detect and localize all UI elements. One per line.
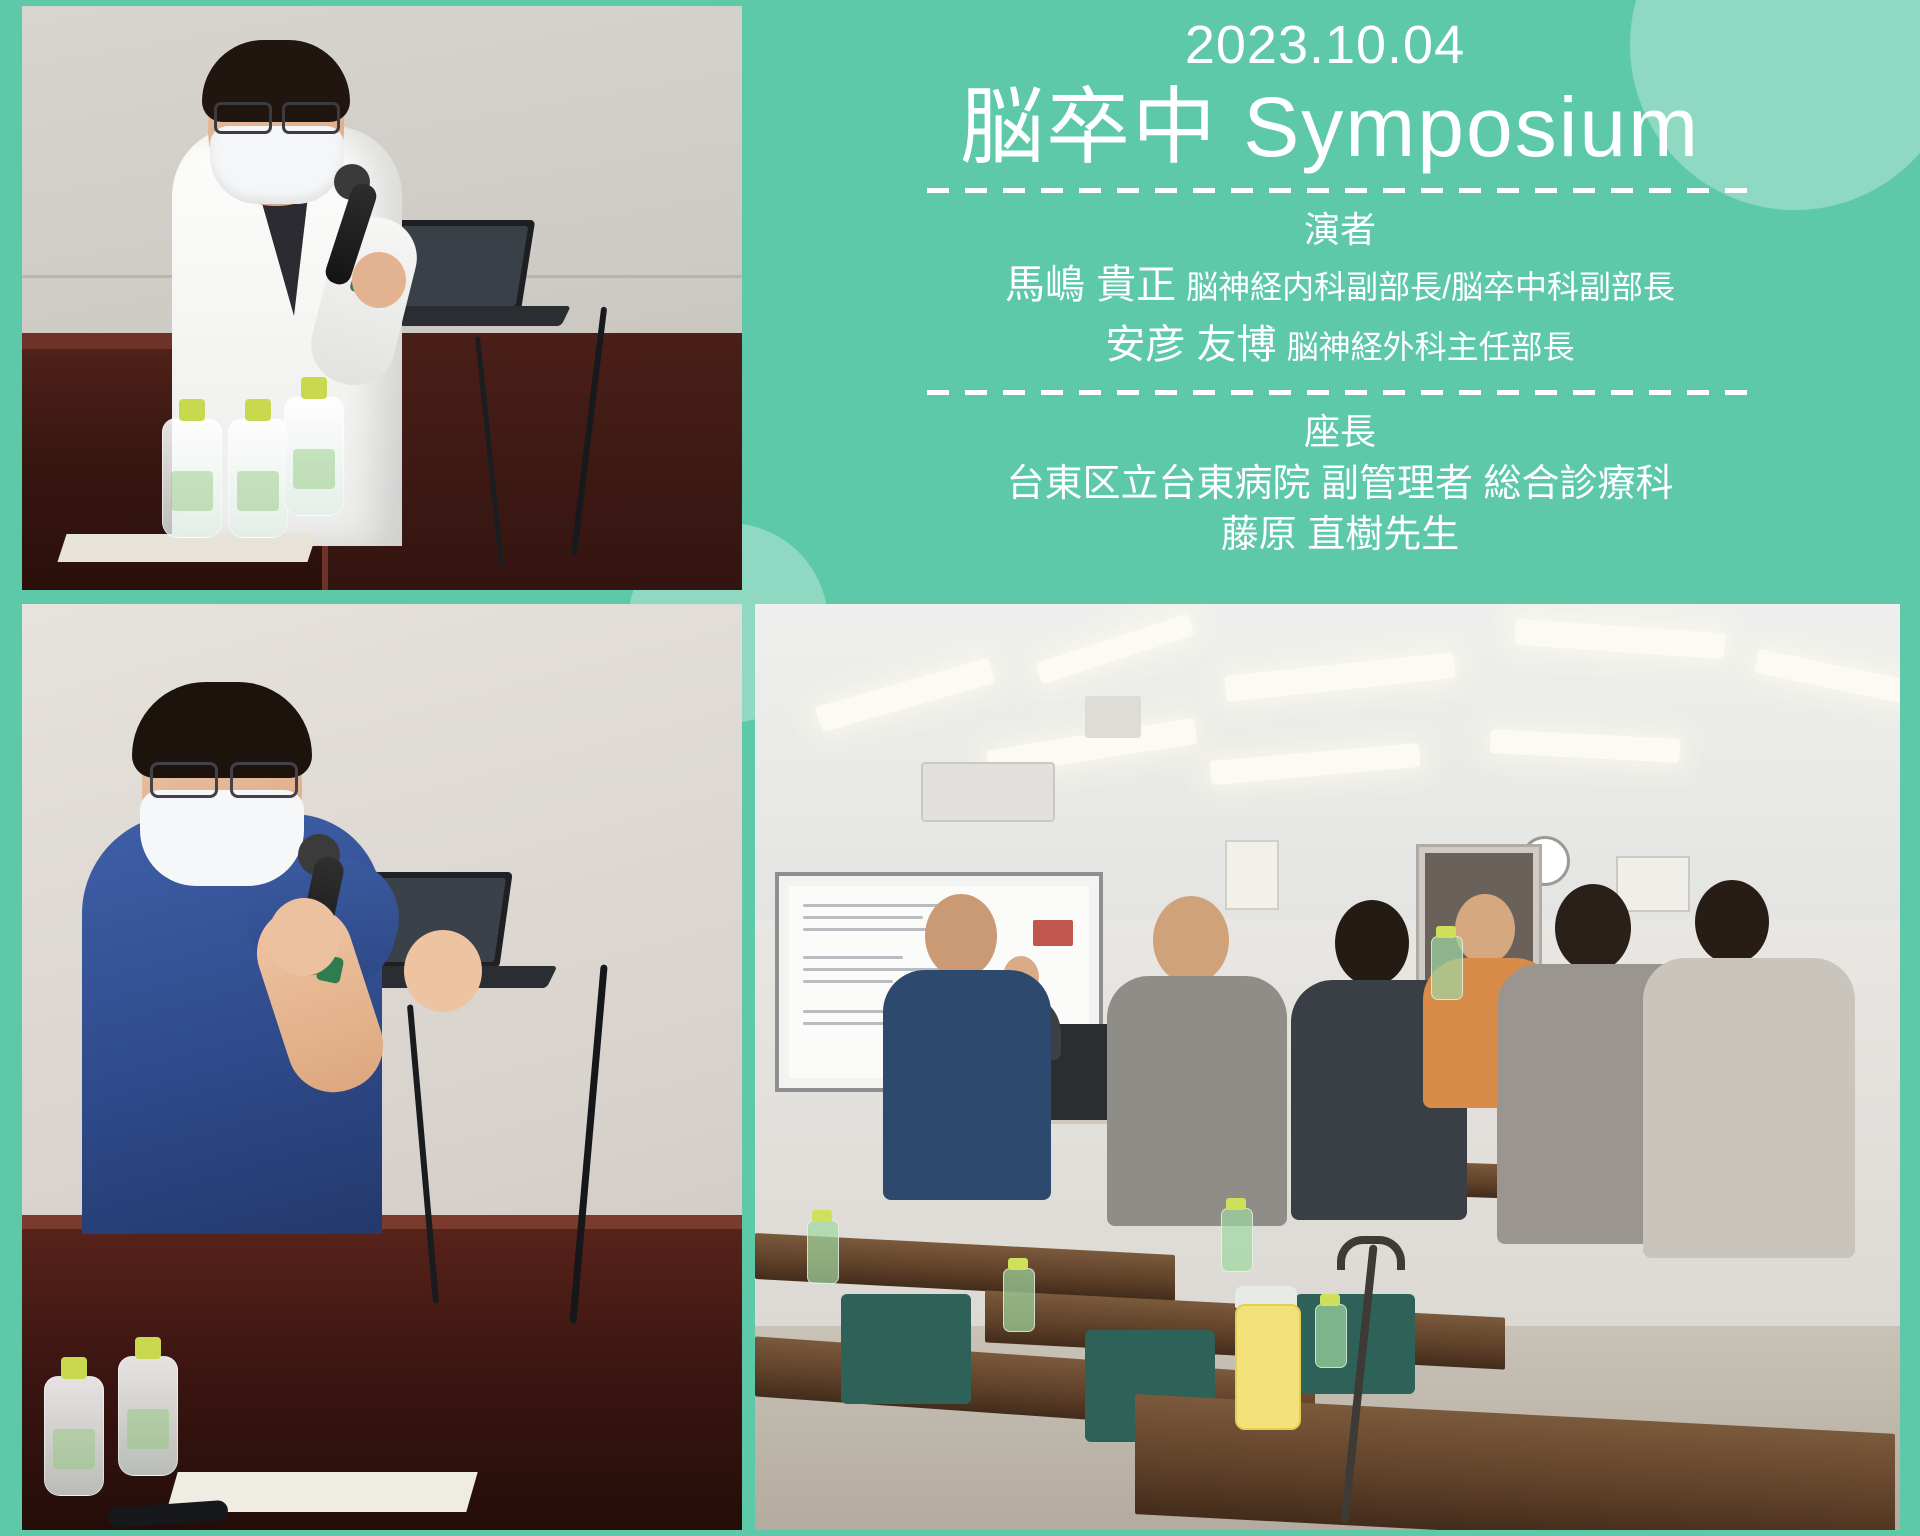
event-title: 脳卒中 Symposium bbox=[760, 80, 1920, 174]
tea-bottle-5 bbox=[1431, 936, 1463, 1000]
speaker-row-2: 安彦 友博 脳神経外科主任部長 bbox=[760, 318, 1920, 372]
divider-bottom bbox=[927, 390, 1753, 395]
chair-affiliation: 台東区立台東病院 副管理者 総合診療科 bbox=[760, 460, 1920, 509]
wall-poster-left bbox=[1225, 840, 1279, 910]
slide-highlight bbox=[1033, 920, 1073, 946]
speaker-hand-mic bbox=[268, 898, 340, 976]
divider-top bbox=[927, 188, 1753, 193]
papers-on-desk bbox=[57, 534, 316, 562]
speaker-2-role: 脳神経外科主任部長 bbox=[1287, 329, 1575, 365]
tea-bottle-cap-5 bbox=[1436, 926, 1456, 938]
water-bottle-3 bbox=[284, 396, 344, 516]
photo-bottom-left-scene bbox=[22, 604, 742, 1530]
tea-bottle-cap-3 bbox=[1226, 1198, 1246, 1210]
event-date: 2023.10.04 bbox=[760, 18, 1920, 72]
tea-bottle-4 bbox=[1315, 1304, 1347, 1368]
eyeglasses bbox=[150, 762, 298, 792]
chair-label: 座長 bbox=[760, 409, 1920, 454]
tea-bottle-2 bbox=[1003, 1268, 1035, 1332]
sanitizer-bottle bbox=[1235, 1304, 1301, 1430]
speaker-row-1: 馬嶋 貴正 脳神経内科副部長/脳卒中科副部長 bbox=[760, 258, 1920, 312]
water-bottle-1 bbox=[162, 418, 222, 538]
symposium-poster: 2023.10.04 脳卒中 Symposium 演者 馬嶋 貴正 脳神経内科副… bbox=[0, 0, 1920, 1536]
speaker-hand bbox=[352, 252, 406, 308]
tea-bottle-cap-4 bbox=[1320, 1294, 1340, 1306]
photo-top-left-scene bbox=[22, 6, 742, 590]
photo-top-left bbox=[22, 6, 742, 590]
speakers-label: 演者 bbox=[760, 207, 1920, 252]
photo-bottom-right bbox=[755, 604, 1900, 1530]
wall-poster-right bbox=[1616, 856, 1690, 912]
photo-bottom-right-scene bbox=[755, 604, 1900, 1530]
water-bottle-2 bbox=[118, 1356, 178, 1476]
speaker-1-role: 脳神経内科副部長/脳卒中科副部長 bbox=[1186, 269, 1675, 305]
tea-bottle-cap-1 bbox=[812, 1210, 832, 1222]
face-mask bbox=[210, 126, 344, 204]
speaker-necktie bbox=[260, 196, 308, 316]
face-mask bbox=[140, 790, 304, 886]
eyeglasses bbox=[214, 102, 340, 128]
info-panel: 2023.10.04 脳卒中 Symposium 演者 馬嶋 貴正 脳神経内科副… bbox=[760, 0, 1920, 596]
photo-bottom-left bbox=[22, 604, 742, 1530]
speaker-1-name: 馬嶋 貴正 bbox=[1005, 263, 1176, 307]
chair-1 bbox=[841, 1294, 971, 1404]
ceiling-vent bbox=[1085, 696, 1141, 738]
speaker-2-name: 安彦 友博 bbox=[1105, 323, 1276, 367]
water-bottle-1 bbox=[44, 1376, 104, 1496]
tea-bottle-cap-2 bbox=[1008, 1258, 1028, 1270]
tea-bottle-3 bbox=[1221, 1208, 1253, 1272]
speaker-hand-gesture bbox=[404, 930, 482, 1012]
water-bottle-2 bbox=[228, 418, 288, 538]
tea-bottle-1 bbox=[807, 1220, 839, 1284]
air-conditioner-vent bbox=[921, 762, 1055, 822]
chair-name: 藤原 直樹先生 bbox=[760, 511, 1920, 560]
